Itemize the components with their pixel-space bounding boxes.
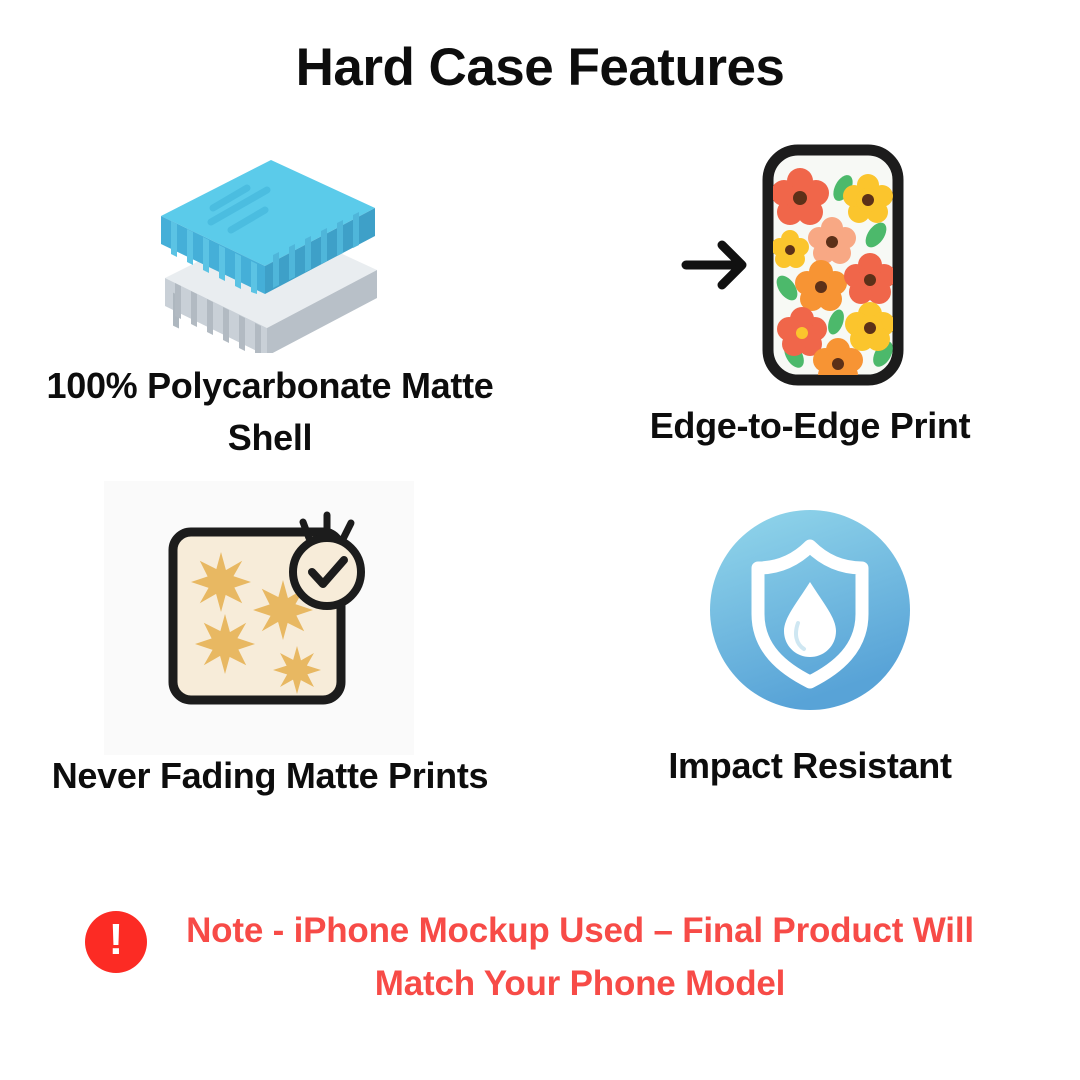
feature-infographic: Hard Case Features: [0, 0, 1080, 1080]
feature-label: 100% Polycarbonate Matte Shell: [0, 360, 540, 464]
feature-edge-to-edge-print: Edge-to-Edge Print: [540, 130, 1080, 452]
note-text: Note - iPhone Mockup Used – Final Produc…: [165, 905, 995, 1010]
feature-label: Never Fading Matte Prints: [0, 750, 540, 802]
exclamation-badge-icon: !: [85, 911, 147, 973]
feature-impact-resistant: Impact Resistant: [540, 480, 1080, 792]
exclamation-glyph: !: [109, 918, 124, 962]
note-banner: ! Note - iPhone Mockup Used – Final Prod…: [0, 905, 1080, 1010]
shield-droplet-icon: [540, 480, 1080, 740]
feature-never-fading-prints: Never Fading Matte Prints: [0, 480, 540, 802]
arrow-right-icon: [686, 245, 742, 285]
starburst-check-icon: [0, 480, 540, 750]
feature-label: Impact Resistant: [540, 740, 1080, 792]
features-grid: 100% Polycarbonate Matte Shell: [0, 130, 1080, 870]
page-title: Hard Case Features: [0, 36, 1080, 100]
feature-label: Edge-to-Edge Print: [540, 400, 1080, 452]
floral-phone-icon: [540, 130, 1080, 400]
feature-polycarbonate-shell: 100% Polycarbonate Matte Shell: [0, 130, 540, 464]
layered-slab-icon: [0, 130, 540, 360]
